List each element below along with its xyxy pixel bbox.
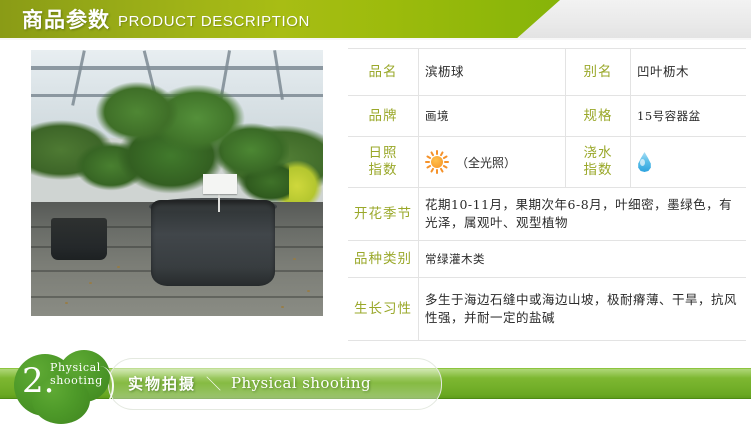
spec-value-alias: 凹叶枥木: [631, 49, 747, 96]
banner-separator: ＼: [206, 373, 221, 394]
photo-plant-label-sign: [203, 174, 237, 194]
spec-value-sunlight-index: （全光照）: [419, 137, 566, 188]
page-subtitle: PRODUCT DESCRIPTION: [118, 13, 310, 30]
banner-title-cn: 实物拍摄: [128, 373, 196, 394]
spec-value-specification: 15号容器盆: [631, 96, 747, 137]
spec-value-flowering-season: 花期10-11月，果期次年6-8月，叶细密，墨绿色，有光泽，属观叶、观型植物: [419, 188, 747, 241]
photo-nursery-pot: [151, 200, 275, 286]
photo-ground-line: [31, 296, 323, 298]
spec-label-sunlight-index: 日照 指数: [348, 137, 419, 188]
banner-title-en: Physical shooting: [231, 374, 371, 392]
spec-label-watering-index: 浇水 指数: [566, 137, 631, 188]
spec-label-product-name: 品名: [348, 49, 419, 96]
table-row: 生长习性 多生于海边石缝中或海边山坡，极耐瘠薄、干旱，抗风性强，并耐一定的盐碱: [348, 278, 746, 341]
spec-value-product-name: 滨枥球: [419, 49, 566, 96]
spec-label-variety-category: 品种类别: [348, 241, 419, 278]
product-spec-table: 品名 滨枥球 别名 凹叶枥木 品牌 画境 规格 15号容器盆 日照 指数: [348, 48, 746, 341]
table-row: 日照 指数 （全光照） 浇水 指数: [348, 137, 746, 188]
header-gray-panel: [520, 0, 751, 40]
photo-leaf-litter: [65, 302, 68, 304]
spec-label-brand: 品牌: [348, 96, 419, 137]
photo-label-stake: [218, 192, 220, 212]
table-row: 品牌 画境 规格 15号容器盆: [348, 96, 746, 137]
spec-label-specification: 规格: [566, 96, 631, 137]
spec-label-flowering-season: 开花季节: [348, 188, 419, 241]
banner-title-group: 实物拍摄 ＼ Physical shooting: [128, 368, 371, 398]
photo-leaf-litter: [281, 306, 284, 308]
photo-leaf-litter: [293, 258, 296, 260]
spec-value-sunlight-note: （全光照）: [456, 154, 516, 171]
page-title: 商品参数: [22, 10, 110, 31]
section-header: 商品参数 PRODUCT DESCRIPTION: [0, 0, 751, 40]
photo-leaf-litter: [307, 290, 310, 292]
product-photo: [31, 50, 323, 316]
table-row: 开花季节 花期10-11月，果期次年6-8月，叶细密，墨绿色，有光泽，属观叶、观…: [348, 188, 746, 241]
spec-value-watering-index: [631, 137, 747, 188]
sun-icon: [425, 150, 449, 174]
photo-leaf-litter: [117, 266, 120, 268]
badge-arc-decoration: [86, 366, 114, 406]
section-badge: 2. Physical shooting: [6, 350, 136, 424]
spec-label-growth-habit: 生长习性: [348, 278, 419, 341]
spec-value-variety-category: 常绿灌木类: [419, 241, 747, 278]
spec-value-growth-habit: 多生于海边石缝中或海边山坡，极耐瘠薄、干旱，抗风性强，并耐一定的盐碱: [419, 278, 747, 341]
table-row: 品名 滨枥球 别名 凹叶枥木: [348, 49, 746, 96]
water-drop-icon: [637, 151, 659, 173]
photo-leaf-litter: [89, 282, 92, 284]
spec-value-brand: 画境: [419, 96, 566, 137]
header-title-group: 商品参数 PRODUCT DESCRIPTION: [22, 0, 310, 40]
spec-label-alias: 别名: [566, 49, 631, 96]
table-row: 品种类别 常绿灌木类: [348, 241, 746, 278]
